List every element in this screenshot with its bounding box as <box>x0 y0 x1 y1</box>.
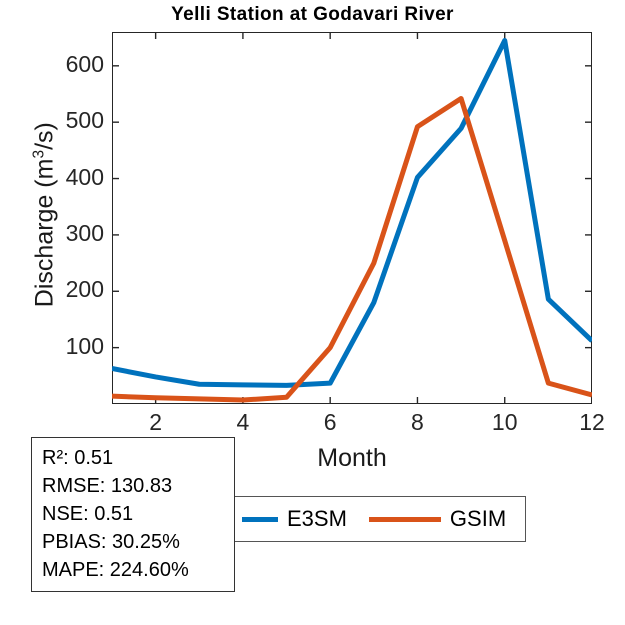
chart-title: Yelli Station at Godavari River <box>0 4 625 26</box>
x-tick-4: 4 <box>218 409 268 436</box>
legend: E3SM GSIM <box>233 496 526 542</box>
legend-label-e3sm: E3SM <box>287 506 347 532</box>
y-tick-300: 300 <box>44 220 104 247</box>
y-tick-100: 100 <box>44 333 104 360</box>
x-axis-label: Month <box>242 444 462 473</box>
legend-swatch-gsim <box>369 517 441 522</box>
stat-nse: NSE: 0.51 <box>42 500 234 528</box>
y-tick-600: 600 <box>44 51 104 78</box>
x-tick-6: 6 <box>305 409 355 436</box>
x-tick-2: 2 <box>131 409 181 436</box>
y-tick-200: 200 <box>44 276 104 303</box>
legend-item-gsim[interactable]: GSIM <box>369 506 506 532</box>
legend-swatch-e3sm <box>242 517 278 522</box>
legend-item-e3sm[interactable]: E3SM <box>242 506 347 532</box>
plot-area <box>112 32 592 404</box>
x-tick-10: 10 <box>480 409 530 436</box>
figure-canvas: Yelli Station at Godavari River Discharg… <box>0 0 625 625</box>
x-tick-8: 8 <box>392 409 442 436</box>
y-tick-400: 400 <box>44 164 104 191</box>
statistics-box: R²: 0.51 RMSE: 130.83 NSE: 0.51 PBIAS: 3… <box>31 437 235 592</box>
x-tick-12: 12 <box>567 409 617 436</box>
y-tick-500: 500 <box>44 107 104 134</box>
legend-label-gsim: GSIM <box>450 506 506 532</box>
stat-rmse: RMSE: 130.83 <box>42 472 234 500</box>
y-axis-label-exponent: 3 <box>30 150 47 159</box>
stat-pbias: PBIAS: 30.25% <box>42 528 234 556</box>
series-line-e3sm <box>112 40 592 385</box>
stat-r2: R²: 0.51 <box>42 444 234 472</box>
stat-mape: MAPE: 224.60% <box>42 556 234 584</box>
